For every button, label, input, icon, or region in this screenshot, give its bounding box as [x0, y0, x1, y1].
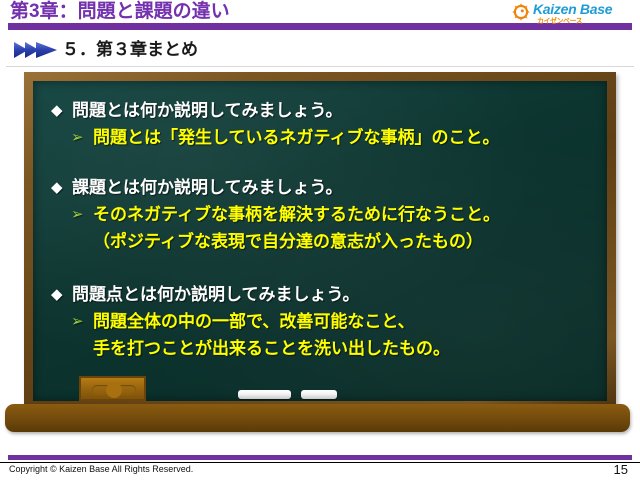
blackboard-surface: ◆ 問題とは何か説明してみましょう。 ➢ 問題とは「発生しているネガティブな事柄… — [33, 81, 607, 401]
footer-accent-bar — [8, 455, 632, 460]
triple-chevron-right-icon — [14, 41, 58, 59]
board-sub-text: そのネガティブな事柄を解決するために行なうこと。 — [93, 201, 500, 228]
eraser-knob — [106, 382, 122, 398]
spacer — [51, 262, 599, 281]
arrow-bullet-icon: ➢ — [71, 124, 93, 151]
diamond-bullet-icon: ◆ — [51, 97, 72, 124]
board-main-line: ◆ 課題とは何か説明してみましょう。 — [51, 174, 599, 201]
blackboard-content: ◆ 問題とは何か説明してみましょう。 ➢ 問題とは「発生しているネガティブな事柄… — [51, 97, 599, 369]
chalk-stick — [238, 390, 291, 399]
board-main-line: ◆ 問題点とは何か説明してみましょう。 — [51, 281, 599, 308]
brand-logo: Kaizen Base カイゼンベース — [506, 1, 634, 27]
logo-wordmark: Kaizen Base — [533, 1, 612, 17]
board-sub-line: ➢ 問題とは「発生しているネガティブな事柄」のこと。 — [71, 124, 599, 151]
arrow-bullet-icon: ➢ — [71, 201, 93, 228]
board-sub-line: ➢ 問題全体の中の一部で、改善可能なこと、 手を打つことが出来ることを洗い出した… — [71, 308, 599, 362]
page-number: 15 — [614, 462, 628, 477]
page-title: 第3章：問題と課題の違い — [10, 1, 230, 23]
board-block: ◆ 課題とは何か説明してみましょう。 ➢ そのネガティブな事柄を解決するために行… — [51, 174, 599, 255]
board-main-text: 問題とは何か説明してみましょう。 — [72, 97, 342, 124]
board-main-text: 課題とは何か説明してみましょう。 — [72, 174, 342, 201]
section-divider — [6, 66, 634, 67]
board-block: ◆ 問題点とは何か説明してみましょう。 ➢ 問題全体の中の一部で、改善可能なこと… — [51, 281, 599, 362]
spacer — [51, 158, 599, 174]
sun-flower-icon — [512, 3, 530, 21]
board-sub-text: （ポジティブな表現で自分達の意志が入ったもの） — [93, 228, 500, 255]
board-sub-text: 手を打つことが出来ることを洗い出したもの。 — [93, 335, 450, 362]
blackboard-frame: ◆ 問題とは何か説明してみましょう。 ➢ 問題とは「発生しているネガティブな事柄… — [24, 72, 616, 410]
footer-divider — [0, 462, 640, 463]
diamond-bullet-icon: ◆ — [51, 174, 72, 201]
board-sub-text: 問題とは「発生しているネガティブな事柄」のこと。 — [93, 124, 499, 151]
arrow-bullet-icon: ➢ — [71, 308, 93, 335]
board-main-text: 問題点とは何か説明してみましょう。 — [72, 281, 359, 308]
section-title: ５．第３章まとめ — [62, 38, 198, 62]
logo-subtext: カイゼンベース — [537, 16, 582, 26]
board-sub-line: ➢ そのネガティブな事柄を解決するために行なうこと。 （ポジティブな表現で自分達… — [71, 201, 599, 255]
chalk-stick — [301, 390, 337, 399]
chalk-tray — [5, 404, 630, 432]
board-main-line: ◆ 問題とは何か説明してみましょう。 — [51, 97, 599, 124]
copyright-text: Copyright © Kaizen Base All Rights Reser… — [9, 464, 193, 474]
slide-header: 第3章：問題と課題の違い Kaizen Base カイゼ — [0, 0, 640, 34]
section-heading: ５．第３章まとめ — [0, 36, 640, 66]
board-block: ◆ 問題とは何か説明してみましょう。 ➢ 問題とは「発生しているネガティブな事柄… — [51, 97, 599, 151]
diamond-bullet-icon: ◆ — [51, 281, 72, 308]
board-sub-text: 問題全体の中の一部で、改善可能なこと、 — [93, 308, 450, 335]
blackboard-eraser — [79, 376, 146, 401]
